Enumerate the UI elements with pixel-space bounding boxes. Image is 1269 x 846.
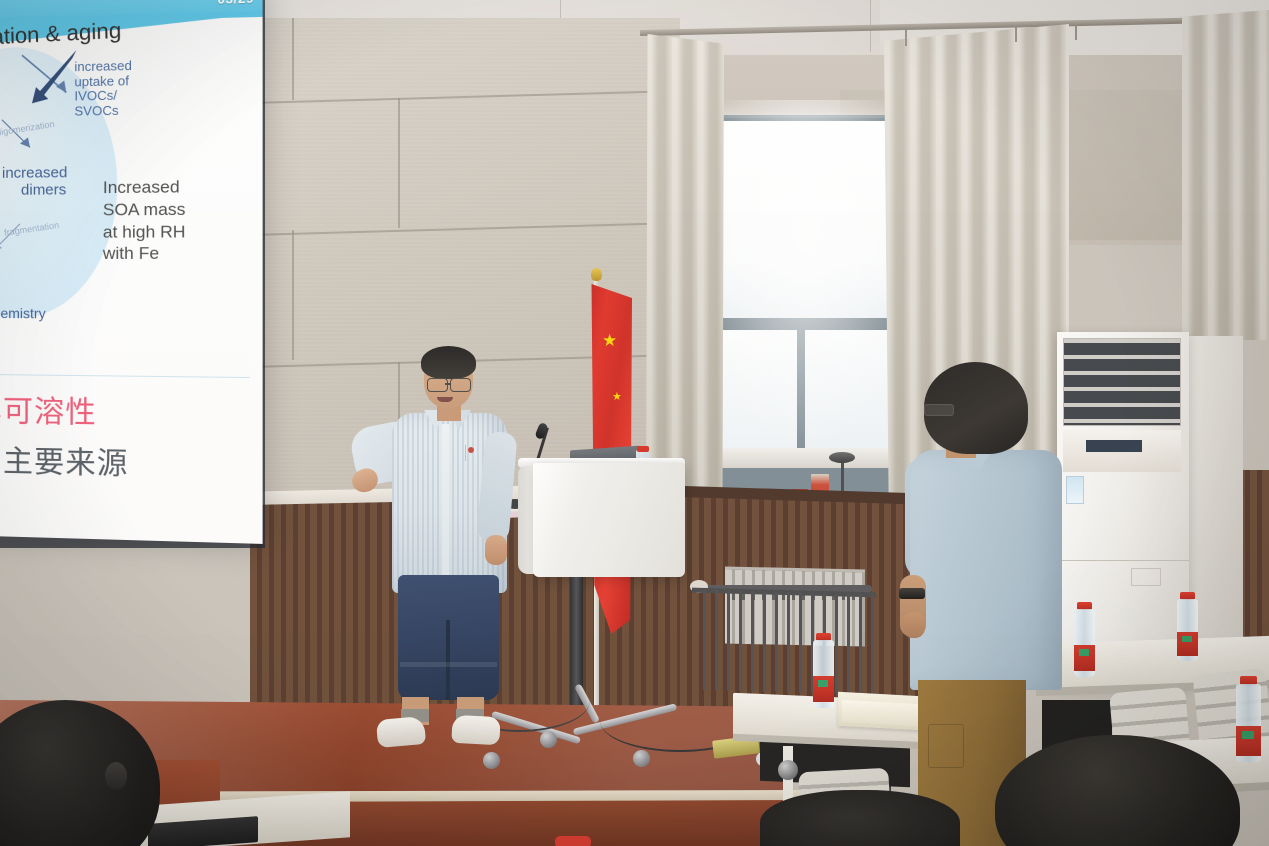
water-bottle-cap: [637, 446, 649, 452]
air-conditioner-vent: [1131, 568, 1161, 586]
presenter-sneaker: [376, 716, 426, 748]
window-pane-top: [718, 121, 891, 321]
eyeglasses-icon: [427, 378, 448, 392]
slide-text-increased-dimers: increaseddimers: [2, 165, 67, 199]
slide-divider: [0, 374, 250, 378]
presenter-hair: [421, 346, 476, 379]
presenter-sneaker: [451, 715, 500, 745]
air-conditioner-sticker: [1066, 476, 1084, 504]
presenter-jeans-seam: [446, 620, 450, 700]
red-object: [555, 836, 591, 846]
slide-text-chinese-gray: 的主要来源: [0, 436, 128, 484]
curtain-hook: [1015, 26, 1017, 42]
air-conditioner-louvers: [1063, 338, 1181, 426]
wall-seam: [292, 230, 294, 360]
bottle-logo-icon: [1079, 649, 1089, 656]
caster-wheel: [633, 750, 650, 767]
window-sill: [706, 448, 902, 468]
flag-star-icon: ★: [602, 332, 617, 349]
sill-lamp-head: [829, 452, 855, 463]
presenter-mouth: [437, 397, 453, 402]
audience-ear: [105, 762, 127, 790]
air-conditioner-display-band: [1086, 440, 1142, 452]
lecture-hall-photo: ★ ★ 03/29 rmation & aging increaseduptak…: [0, 0, 1269, 846]
presenter-left-hand: [485, 535, 507, 565]
slide-text-chinese-pink: 其可溶性: [0, 386, 97, 432]
attendee-trouser-pocket: [928, 724, 964, 768]
curtain-hook: [1075, 24, 1077, 40]
slide-text-uptake: increaseduptake ofIVOCs/SVOCs: [74, 59, 132, 119]
audience-head: [760, 790, 960, 846]
curtain-hook: [905, 30, 907, 46]
presenter-jeans-cuff: [400, 662, 497, 667]
air-conditioner-seam: [1057, 560, 1189, 561]
podium: [533, 463, 685, 577]
wristwatch-icon: [899, 588, 925, 599]
eyeglasses-bridge: [445, 383, 451, 385]
presenter-shirt-placket: [442, 424, 449, 588]
bottle-logo-icon: [1182, 636, 1192, 642]
slide-text-chemistry: n chemistry: [0, 306, 46, 322]
flag-star-icon: ★: [612, 392, 622, 403]
eyeglasses-icon: [924, 404, 954, 416]
wall-seam: [292, 18, 294, 100]
caster-wheel: [483, 752, 500, 769]
flag-finial: [591, 268, 602, 281]
desk-caster: [778, 760, 798, 780]
attendee-hand: [903, 612, 925, 638]
eyeglasses-icon: [450, 378, 471, 392]
railing-balusters: [694, 590, 874, 695]
window-pane-bottom-right: [805, 330, 891, 450]
curtain-far-right: [1182, 10, 1269, 340]
projection-screen: 03/29 rmation & aging increaseduptake of…: [0, 0, 263, 544]
window-mullion-vertical: [797, 322, 805, 452]
bottle-logo-icon: [818, 680, 828, 687]
slide-text-soa-mass: IncreasedSOA massat high RHwith Fe: [103, 176, 186, 265]
caster-wheel: [540, 731, 557, 748]
bottle-logo-icon: [1242, 731, 1254, 739]
paper-stack-top: [842, 700, 918, 726]
slide-page-number: 03/29: [217, 0, 254, 7]
wall-seam: [398, 98, 400, 228]
attendee-shirt: [910, 450, 1062, 690]
curtain-left: [646, 34, 724, 514]
presenter-shirt-logo: [468, 447, 474, 453]
window-pane-bottom-left: [718, 330, 798, 450]
